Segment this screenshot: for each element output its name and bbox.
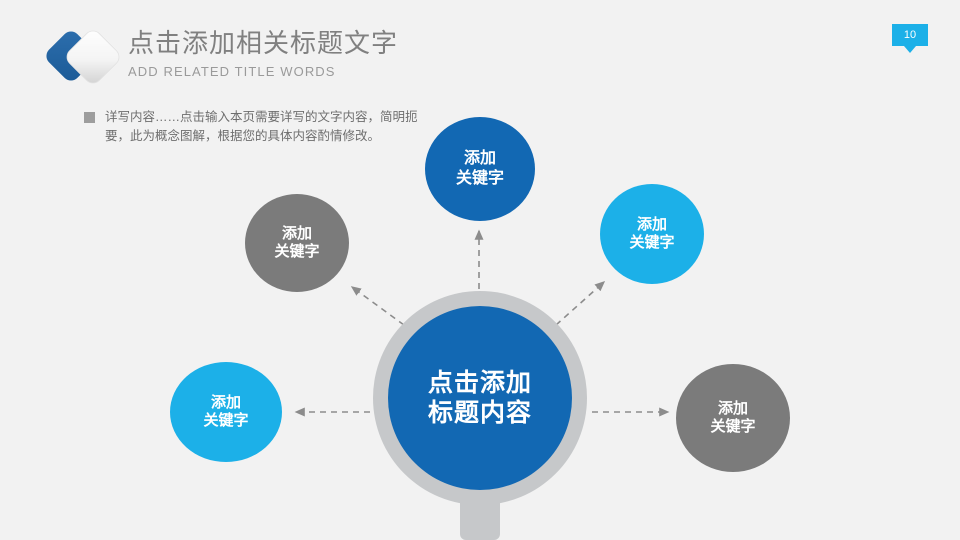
node-top[interactable]: 添加 关键字 (425, 117, 535, 221)
node-top-line1: 添加 (456, 149, 504, 169)
node-upper-left-line1: 添加 (274, 225, 319, 243)
connector-to-upper-right (556, 282, 604, 325)
concept-diagram: 点击添加 标题内容 添加 关键字 添加 关键字 添加 关键字 (0, 0, 960, 540)
node-upper-right-line1: 添加 (629, 216, 674, 234)
connector-to-upper-left (352, 287, 404, 325)
node-upper-right[interactable]: 添加 关键字 (600, 184, 704, 284)
center-node-line1: 点击添加 (428, 368, 532, 399)
center-node-line2: 标题内容 (428, 398, 532, 429)
node-lower-left[interactable]: 添加 关键字 (170, 362, 282, 462)
node-lower-right[interactable]: 添加 关键字 (676, 364, 790, 472)
node-upper-left-line2: 关键字 (274, 243, 319, 261)
node-upper-left[interactable]: 添加 关键字 (245, 194, 349, 292)
center-node[interactable]: 点击添加 标题内容 (388, 306, 572, 490)
node-top-line2: 关键字 (456, 169, 504, 189)
node-lower-left-line2: 关键字 (203, 412, 248, 430)
node-lower-right-line1: 添加 (710, 400, 755, 418)
slide: 点击添加相关标题文字 ADD RELATED TITLE WORDS 10 详写… (0, 0, 960, 540)
node-lower-left-line1: 添加 (203, 394, 248, 412)
node-lower-right-line2: 关键字 (710, 418, 755, 436)
node-upper-right-line2: 关键字 (629, 234, 674, 252)
